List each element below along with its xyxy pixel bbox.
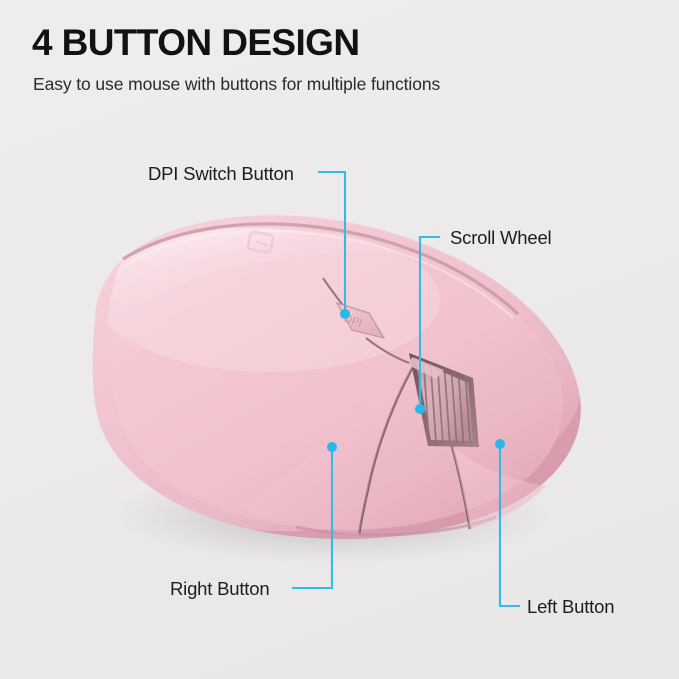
callout-label-right-button: Right Button [170,578,269,600]
callout-label-left-button: Left Button [527,596,614,618]
product-infographic: 4 BUTTON DESIGN Easy to use mouse with b… [0,0,679,679]
mouse-illustration: DPI [0,0,679,679]
callout-label-scroll-wheel: Scroll Wheel [450,227,551,249]
callout-label-dpi-switch-button: DPI Switch Button [148,163,294,185]
